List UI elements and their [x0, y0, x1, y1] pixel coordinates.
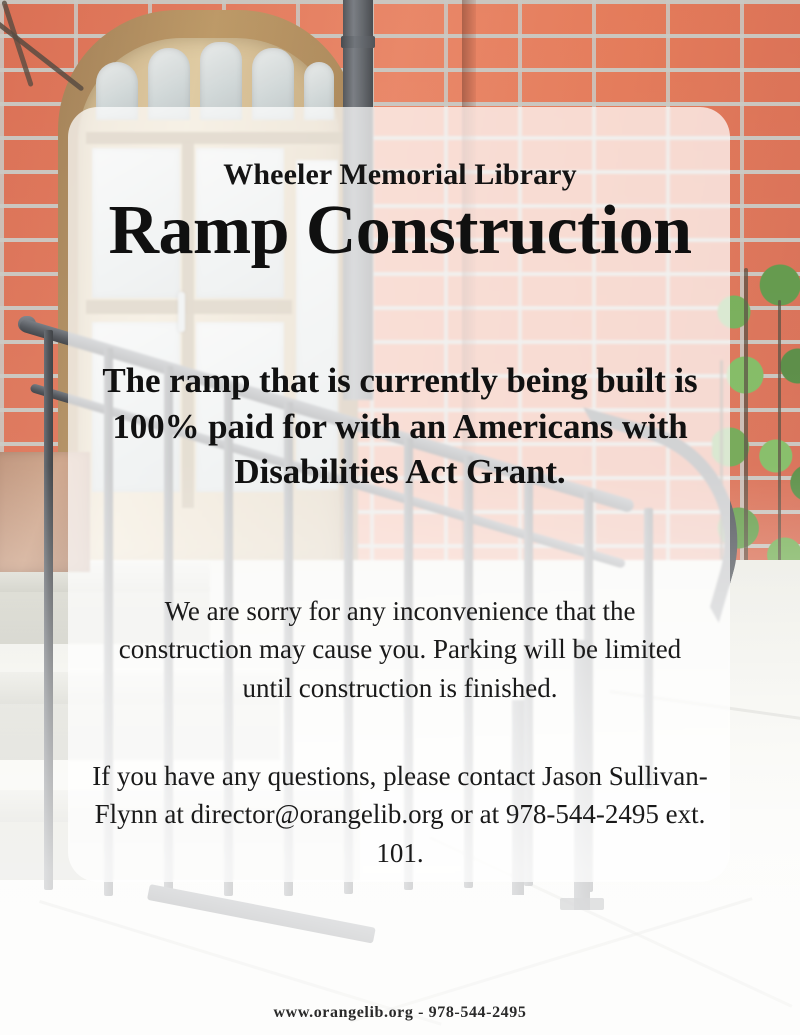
organization-name: Wheeler Memorial Library — [0, 160, 800, 190]
footer-contact: www.orangelib.org - 978-544-2495 — [0, 1004, 800, 1022]
apology-note: We are sorry for any inconvenience that … — [96, 592, 704, 707]
funding-statement: The ramp that is currently being built i… — [76, 358, 724, 495]
poster-text: Wheeler Memorial Library Ramp Constructi… — [0, 0, 800, 1035]
page-title: Ramp Construction — [0, 196, 800, 266]
contact-info: If you have any questions, please contac… — [88, 757, 712, 872]
poster: Wheeler Memorial Library Ramp Constructi… — [0, 0, 800, 1035]
